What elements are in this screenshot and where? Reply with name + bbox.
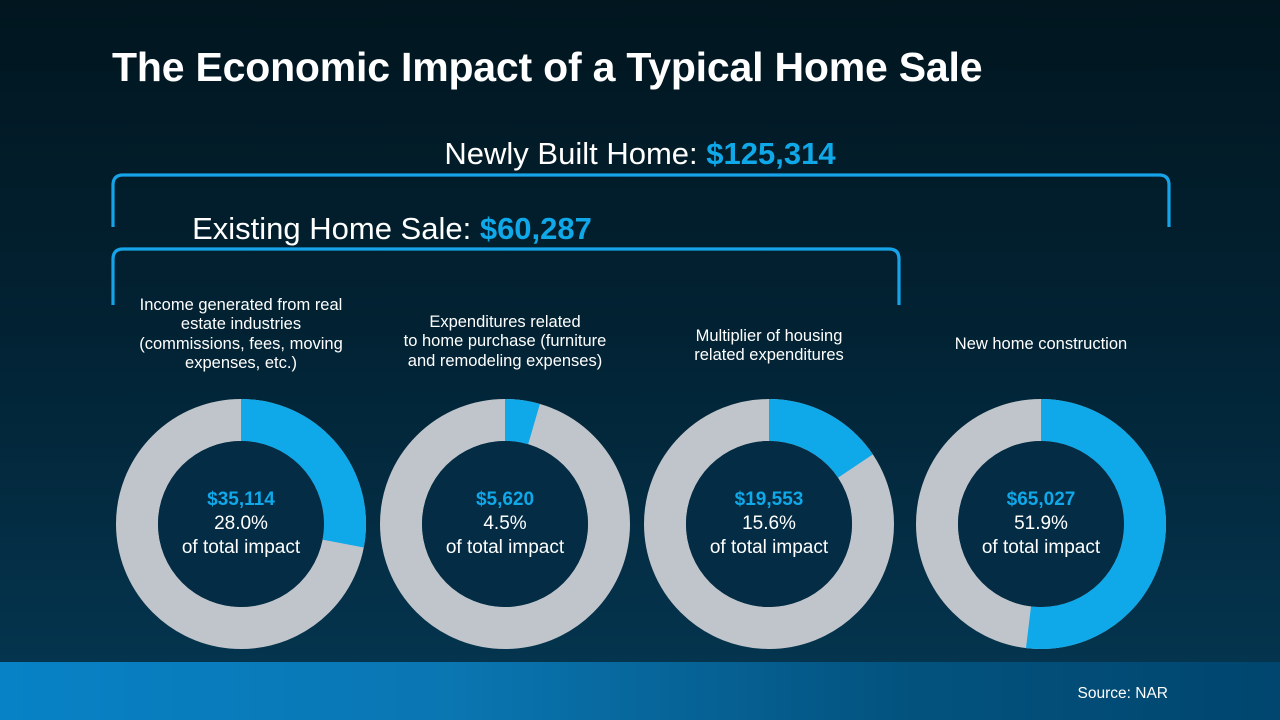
column-header-2: Multiplier of housing related expenditur… (637, 290, 901, 366)
existing-home-label: Existing Home Sale: (192, 211, 480, 246)
donut-svg-0 (115, 398, 367, 650)
column-income-real-estate: Income generated from real estate indust… (109, 290, 373, 374)
column-multiplier-housing: Multiplier of housing related expenditur… (637, 290, 901, 366)
donut-chart-new-home-construction: $65,027 51.9% of total impact (915, 398, 1167, 650)
donut-svg-1 (379, 398, 631, 650)
existing-home-sale-total: Existing Home Sale: $60,287 (0, 211, 784, 247)
donut-chart-multiplier-housing: $19,553 15.6% of total impact (643, 398, 895, 650)
donut-chart-expenditures-home-purchase: $5,620 4.5% of total impact (379, 398, 631, 650)
donut-hole-3 (958, 441, 1124, 607)
newly-built-amount: $125,314 (706, 136, 835, 171)
existing-home-amount: $60,287 (480, 211, 592, 246)
newly-built-label: Newly Built Home: (444, 136, 706, 171)
donut-hole-2 (686, 441, 852, 607)
infographic-slide: The Economic Impact of a Typical Home Sa… (0, 0, 1280, 720)
page-title: The Economic Impact of a Typical Home Sa… (112, 44, 982, 91)
column-header-0: Income generated from real estate indust… (109, 290, 373, 374)
donut-svg-3 (915, 398, 1167, 650)
donut-svg-2 (643, 398, 895, 650)
column-header-1: Expenditures related to home purchase (f… (373, 290, 637, 371)
column-expenditures-home-purchase: Expenditures related to home purchase (f… (373, 290, 637, 371)
column-header-3: New home construction (909, 290, 1173, 354)
donut-hole-0 (158, 441, 324, 607)
donut-hole-1 (422, 441, 588, 607)
donut-chart-income-real-estate: $35,114 28.0% of total impact (115, 398, 367, 650)
newly-built-home-total: Newly Built Home: $125,314 (0, 136, 1280, 172)
source-attribution: Source: NAR (1078, 685, 1168, 703)
column-new-home-construction: New home construction (909, 290, 1173, 354)
